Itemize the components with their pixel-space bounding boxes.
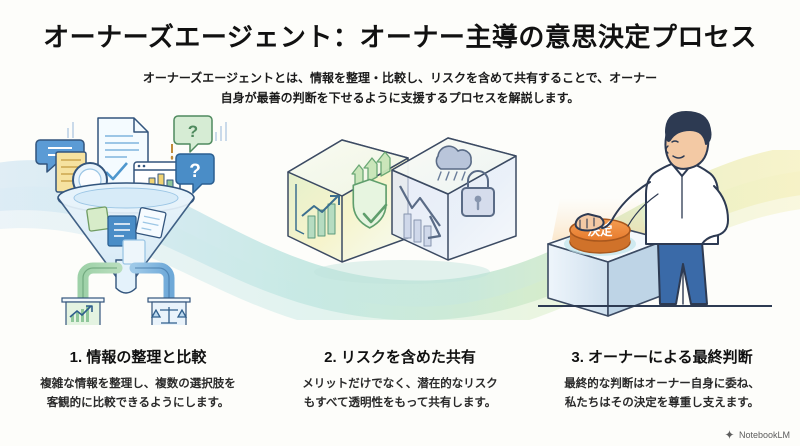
step-3-caption: 3. オーナーによる最終判断 最終的な判断はオーナー自身に委ね、 私たちはその決… xyxy=(529,346,795,413)
page-subtitle: オーナーズエージェントとは、情報を整理・比較し、リスクを含めて共有することで、オ… xyxy=(0,68,800,109)
step-1-body-line-1: 複雑な情報を整理し、複数の選択肢を xyxy=(5,375,271,394)
step-1-body-line-2: 客観的に比較できるようにします。 xyxy=(5,394,271,413)
subtitle-line-1: オーナーズエージェントとは、情報を整理・比較し、リスクを含めて共有することで、オ… xyxy=(0,68,800,88)
step-2-body: メリットだけでなく、潜在的なリスク もすべて透明性をもって共有します。 xyxy=(267,375,533,413)
document-icon xyxy=(135,207,166,238)
step-2-caption: 2. リスクを含めた共有 メリットだけでなく、潜在的なリスク もすべて透明性をも… xyxy=(267,346,533,413)
step-3-body-line-2: 私たちはその決定を尊重し支えます。 xyxy=(529,394,795,413)
step-3-body: 最終的な判断はオーナー自身に委ね、 私たちはその決定を尊重し支えます。 xyxy=(529,375,795,413)
question-mark-icon: ? xyxy=(174,116,212,152)
step-1-title: 1. 情報の整理と比較 xyxy=(5,346,271,367)
cube-risk xyxy=(392,138,516,260)
notebooklm-logo-icon xyxy=(724,429,735,440)
illustration-step-3: 決定 xyxy=(530,110,780,325)
step-2-title: 2. リスクを含めた共有 xyxy=(267,346,533,367)
step-1-body: 複雑な情報を整理し、複数の選択肢を 客観的に比較できるようにします。 xyxy=(5,375,271,413)
svg-text:?: ? xyxy=(189,161,201,182)
document-icon xyxy=(123,240,145,264)
illustration-step-2 xyxy=(280,110,525,325)
notebooklm-watermark: NotebookLM xyxy=(724,429,790,440)
cube-opportunity xyxy=(288,140,408,262)
step-3-title: 3. オーナーによる最終判断 xyxy=(529,346,795,367)
step-1-caption: 1. 情報の整理と比較 複雑な情報を整理し、複数の選択肢を 客観的に比較できるよ… xyxy=(5,346,271,413)
illustration-step-1: ? ? xyxy=(20,110,270,325)
pedestal-icon xyxy=(62,298,104,325)
svg-text:?: ? xyxy=(188,122,198,141)
page-title: オーナーズエージェント：オーナー主導の意思決定プロセス xyxy=(0,22,800,53)
question-mark-icon: ? xyxy=(176,154,214,193)
note-icon xyxy=(87,207,110,232)
pedestal-icon xyxy=(148,298,190,325)
step-3-body-line-1: 最終的な判断はオーナー自身に委ね、 xyxy=(529,375,795,394)
step-2-body-line-2: もすべて透明性をもって共有します。 xyxy=(267,394,533,413)
step-2-body-line-1: メリットだけでなく、潜在的なリスク xyxy=(267,375,533,394)
subtitle-line-2: 自身が最善の判断を下せるように支援するプロセスを解説します。 xyxy=(0,88,800,108)
cube-shadow xyxy=(314,260,490,284)
infographic-canvas: オーナーズエージェント：オーナー主導の意思決定プロセス オーナーズエージェントと… xyxy=(0,0,800,446)
watermark-label: NotebookLM xyxy=(739,430,790,440)
